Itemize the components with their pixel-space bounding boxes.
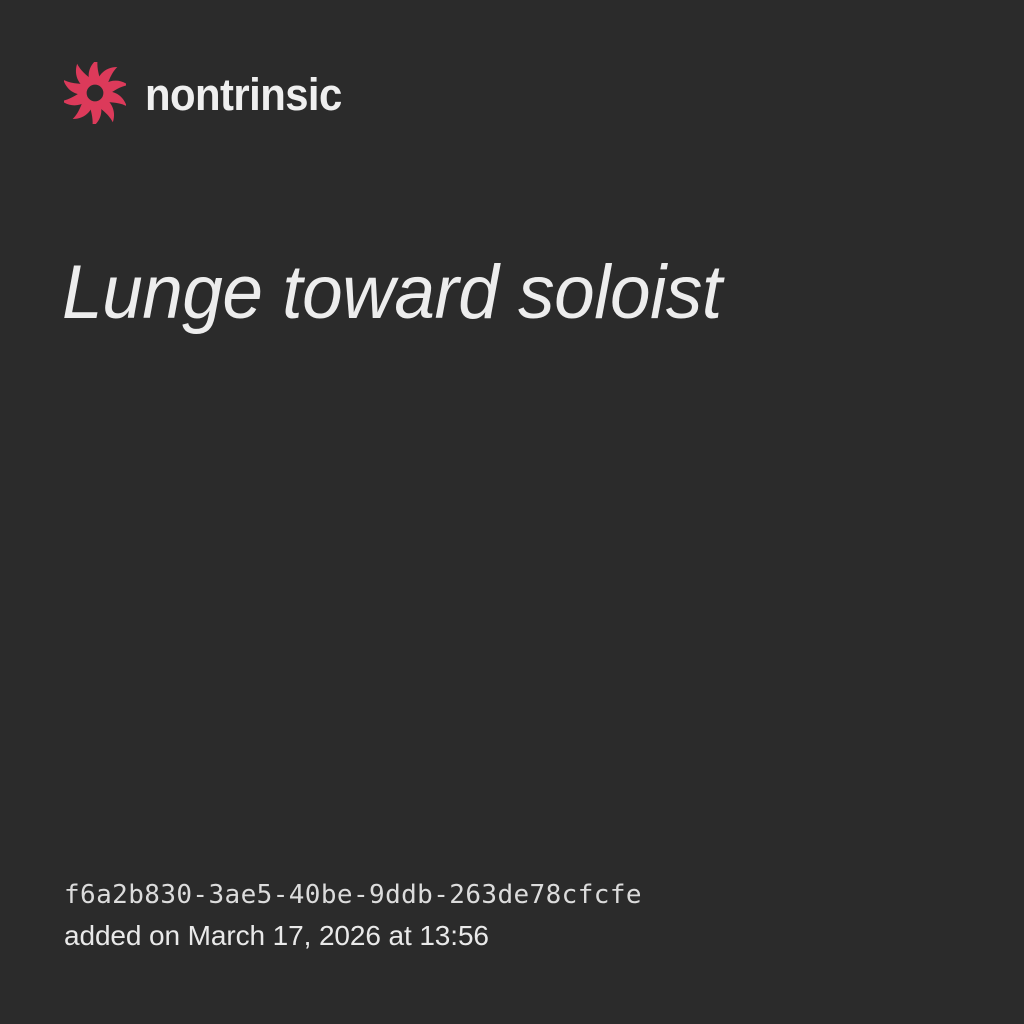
- brand-lockup[interactable]: nontrinsic: [64, 61, 357, 125]
- nontrinsic-pinwheel-icon: [64, 62, 126, 124]
- entry-uuid: f6a2b830-3ae5-40be-9ddb-263de78cfcfe: [64, 878, 642, 912]
- entry-card: nontrinsic Lunge toward soloist f6a2b830…: [0, 0, 1024, 1024]
- brand-name: nontrinsic: [145, 72, 342, 117]
- entry-metadata: f6a2b830-3ae5-40be-9ddb-263de78cfcfe add…: [64, 878, 642, 954]
- page-title: Lunge toward soloist: [62, 253, 926, 333]
- entry-added-timestamp: added on March 17, 2026 at 13:56: [64, 918, 642, 954]
